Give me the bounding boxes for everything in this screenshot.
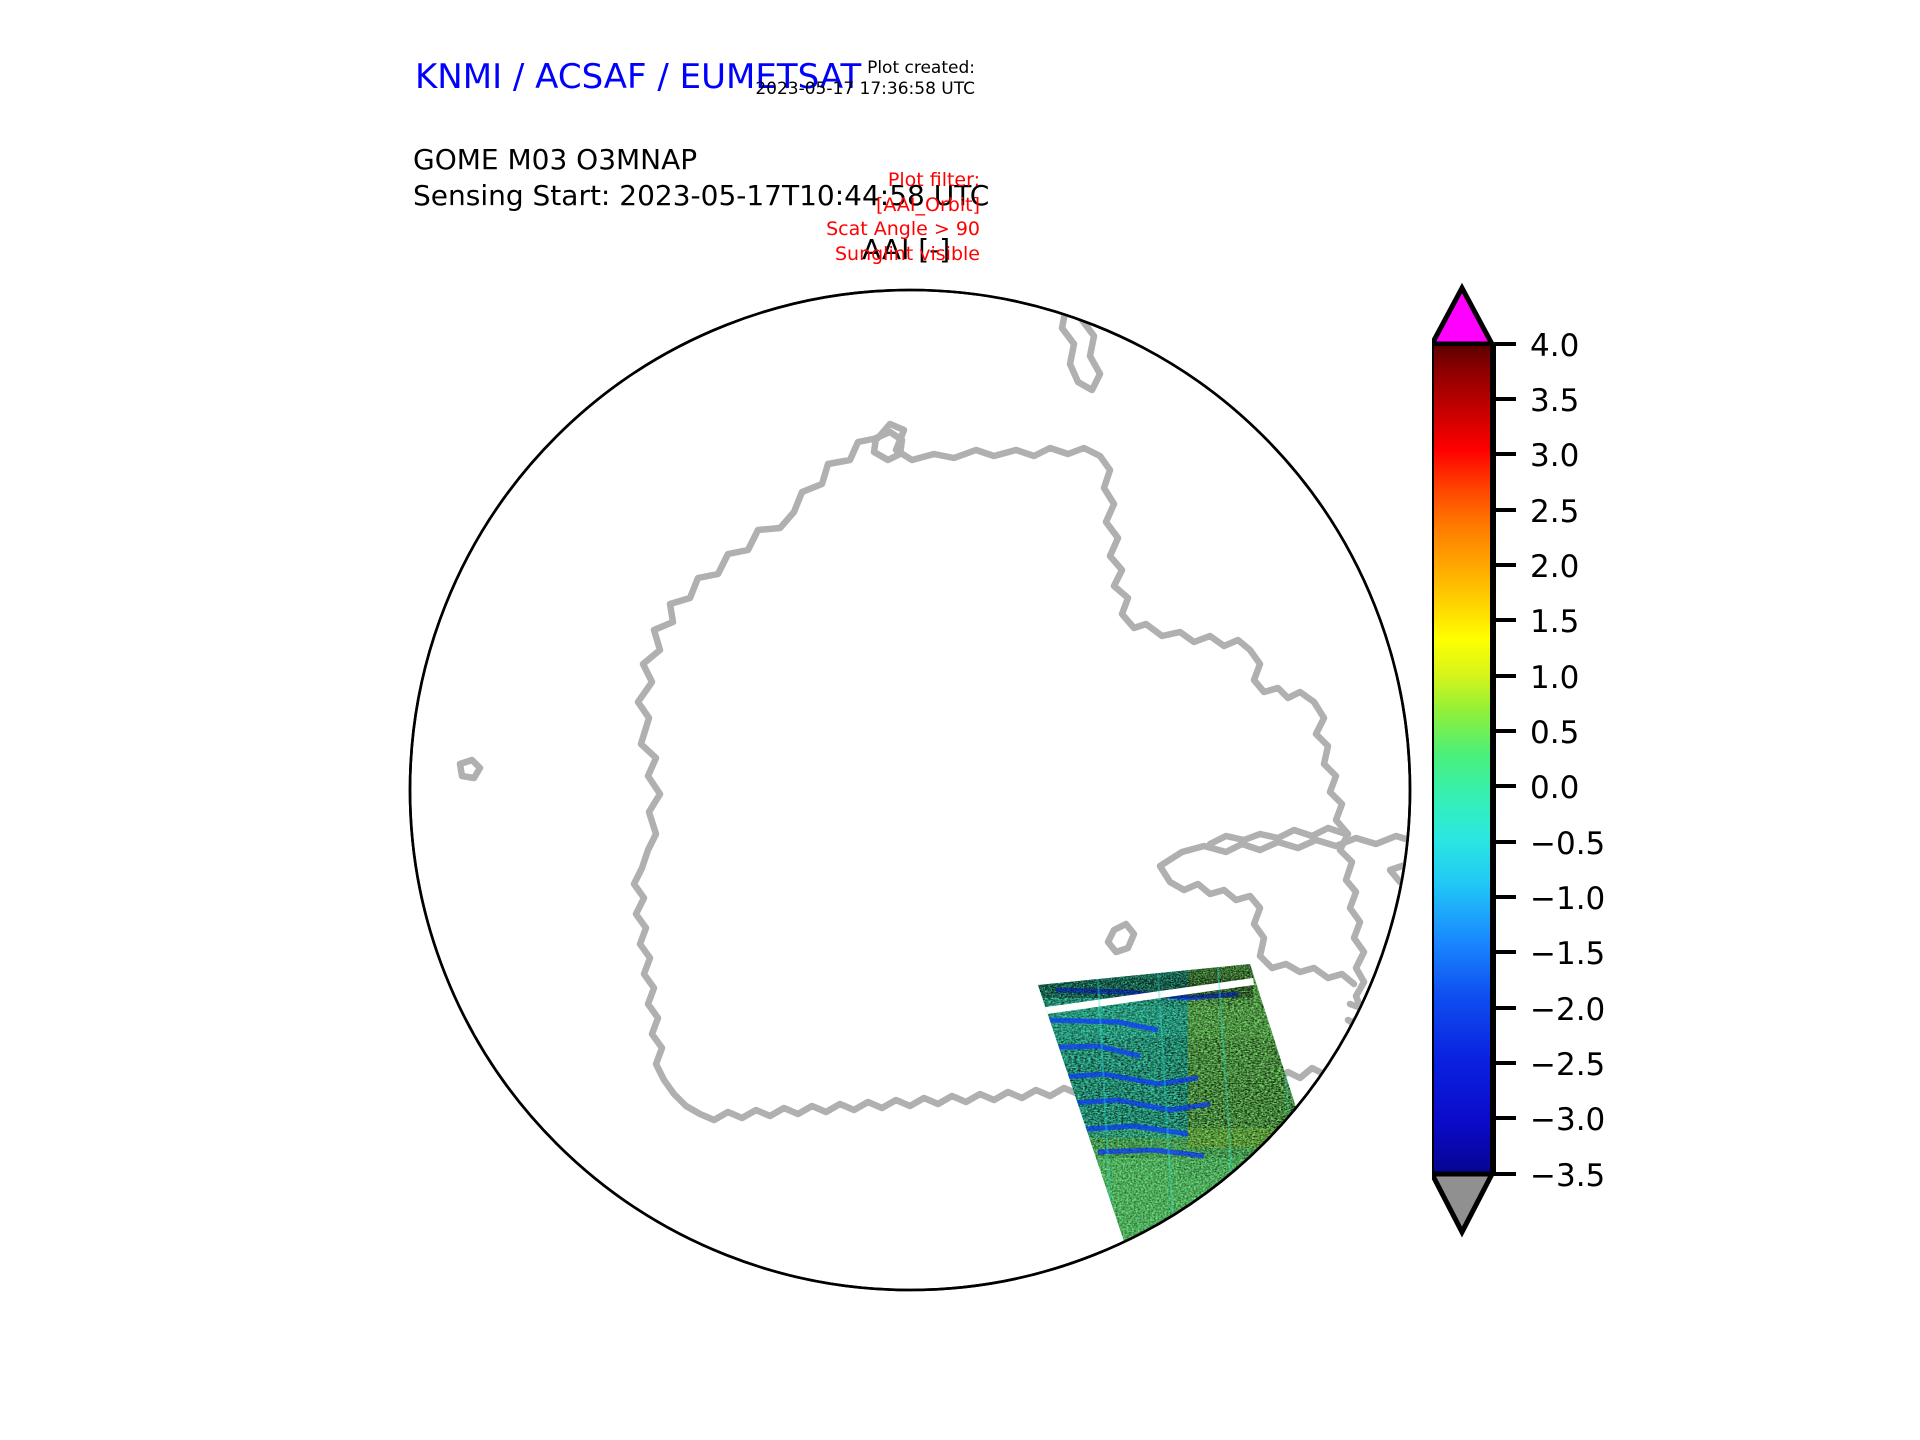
polar-map (398, 278, 1428, 1308)
plot-created-label: Plot created: (755, 58, 975, 79)
cb-label-14: −3.0 (1530, 1102, 1605, 1138)
colorbar-tick-labels: 4.0 3.5 3.0 2.5 2.0 1.5 1.0 0.5 0.0 −0.5… (1530, 328, 1605, 1194)
colorbar-gradient (1432, 344, 1492, 1174)
plot-filter-label: Plot filter: (826, 168, 980, 193)
coastline-antarctic-peninsula (1348, 1004, 1406, 1040)
cb-label-15: −3.5 (1530, 1158, 1605, 1194)
coastline-peninsula-tip (1380, 1064, 1408, 1104)
colorbar-ticks (1494, 344, 1516, 1174)
plot-filter-condition: Scat Angle > 90 (826, 217, 980, 242)
cb-label-5: 1.5 (1530, 604, 1579, 640)
cb-label-7: 0.5 (1530, 715, 1579, 751)
cb-label-9: −0.5 (1530, 826, 1605, 862)
map-canvas (398, 278, 1428, 1308)
cb-label-8: 0.0 (1530, 770, 1579, 806)
cb-label-1: 3.5 (1530, 383, 1579, 419)
cb-label-13: −2.5 (1530, 1047, 1605, 1083)
plot-filter-note: Sunglint visible (826, 242, 980, 267)
plot-created-timestamp: 2023-05-17 17:36:58 UTC (755, 79, 975, 100)
colorbar-canvas: 4.0 3.5 3.0 2.5 2.0 1.5 1.0 0.5 0.0 −0.5… (1432, 282, 1672, 1302)
cb-label-11: −1.5 (1530, 936, 1605, 972)
plot-filter-name: [AAI_Orbit] (826, 193, 980, 218)
cb-label-2: 3.0 (1530, 438, 1579, 474)
cb-label-3: 2.5 (1530, 494, 1579, 530)
colorbar-over-range-arrow (1432, 288, 1492, 344)
cb-label-10: −1.0 (1530, 881, 1605, 917)
plot-filter-block: Plot filter: [AAI_Orbit] Scat Angle > 90… (826, 168, 980, 267)
cb-label-12: −2.0 (1530, 992, 1605, 1028)
plot-created-block: Plot created: 2023-05-17 17:36:58 UTC (755, 58, 975, 99)
cb-label-6: 1.0 (1530, 660, 1579, 696)
cb-label-4: 2.0 (1530, 549, 1579, 585)
cb-label-0: 4.0 (1530, 328, 1579, 364)
colorbar: 4.0 3.5 3.0 2.5 2.0 1.5 1.0 0.5 0.0 −0.5… (1432, 282, 1672, 1302)
colorbar-under-range-arrow (1432, 1174, 1492, 1232)
